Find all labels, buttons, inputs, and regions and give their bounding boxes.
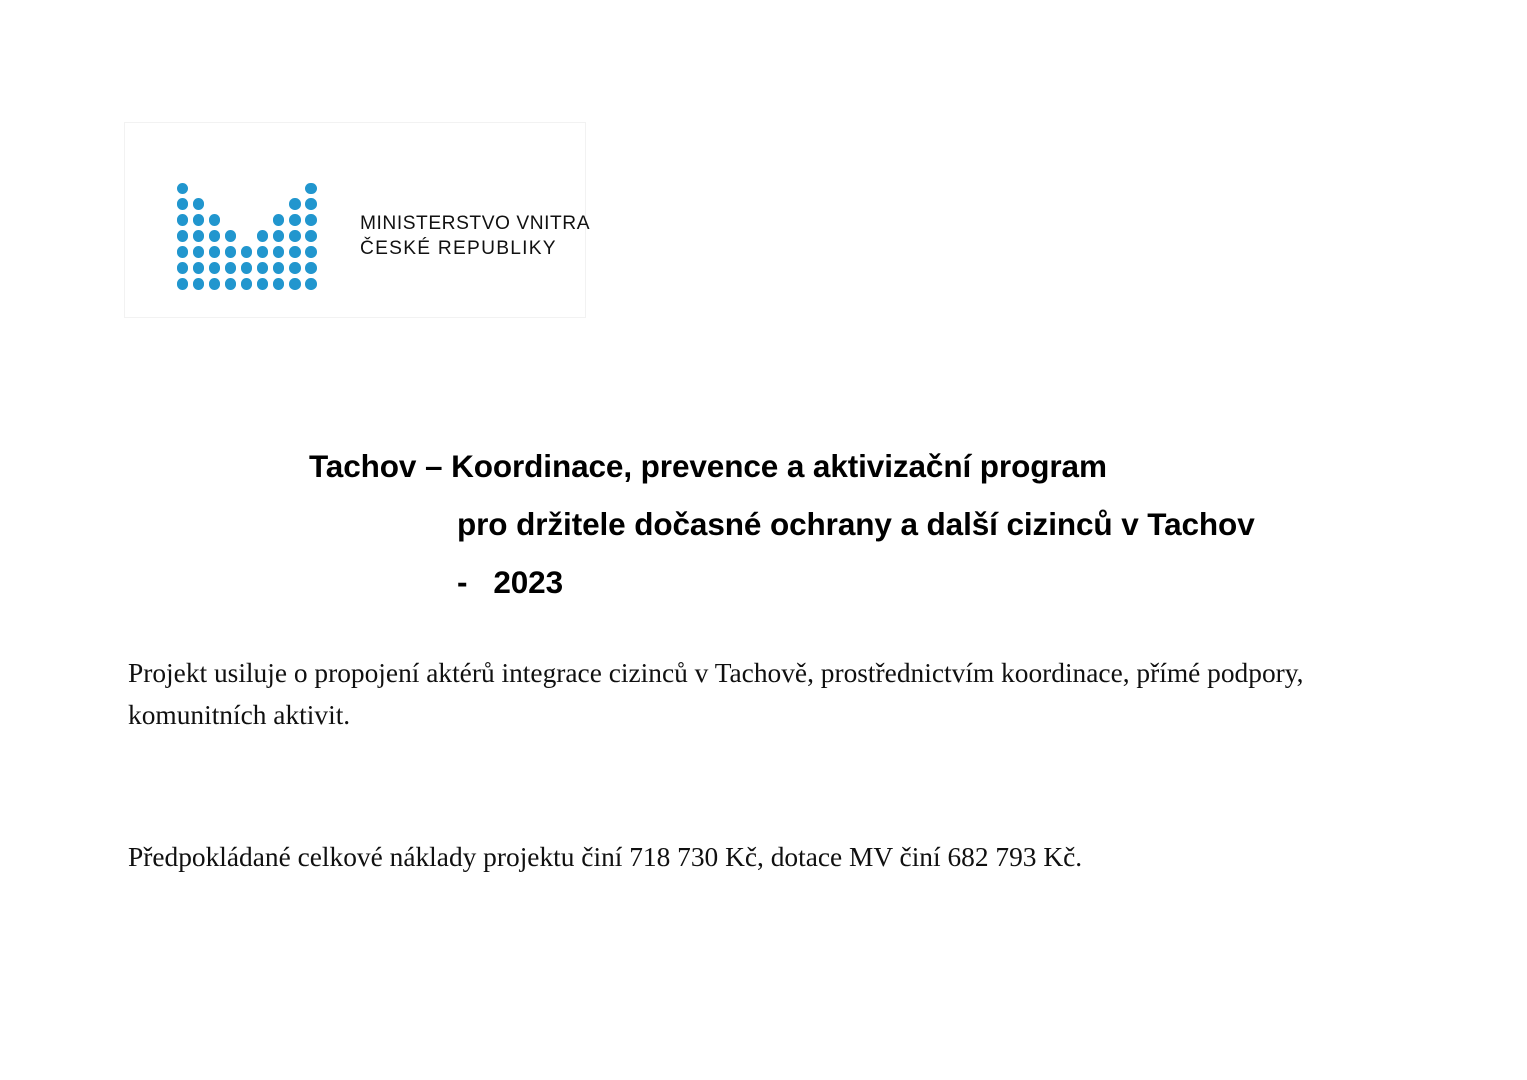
logo-dot (208, 260, 224, 276)
body-text: Projekt usiluje o propojení aktérů integ… (128, 652, 1403, 878)
logo-dot (176, 260, 192, 276)
logo-dot (176, 213, 192, 229)
logo-dot (272, 213, 288, 229)
logo-dot (224, 276, 240, 292)
logo-dot (192, 245, 208, 261)
logo-dot-empty (240, 181, 256, 197)
logo-dot-empty (224, 213, 240, 229)
logo-dot (288, 260, 304, 276)
logo-dot-empty (224, 197, 240, 213)
logo-dot (256, 245, 272, 261)
logo-dot-empty (240, 229, 256, 245)
logo-dot (240, 260, 256, 276)
wordmark-line-1: MINISTERSTVO VNITRA (360, 212, 590, 237)
logo-dot (256, 229, 272, 245)
logo-dot (272, 229, 288, 245)
ministry-logo-wordmark: MINISTERSTVO VNITRA ČESKÉ REPUBLIKY (360, 212, 590, 262)
logo-dot (240, 245, 256, 261)
logo-dot (176, 197, 192, 213)
logo-dot (176, 245, 192, 261)
page-title-line-3: - 2023 (0, 553, 1527, 611)
logo-dot-empty (272, 197, 288, 213)
page-title-line-2: pro držitele dočasné ochrany a další ciz… (0, 495, 1527, 553)
logo-dot (304, 245, 320, 261)
logo-dot (224, 245, 240, 261)
logo-dot (224, 229, 240, 245)
logo-dot (208, 245, 224, 261)
logo-dot (176, 229, 192, 245)
document-page: MINISTERSTVO VNITRA ČESKÉ REPUBLIKY Tach… (0, 0, 1527, 1080)
logo-dot (288, 276, 304, 292)
logo-dot (208, 276, 224, 292)
logo-dot (288, 245, 304, 261)
logo-dot (208, 229, 224, 245)
logo-dot (304, 229, 320, 245)
wordmark-line-2: ČESKÉ REPUBLIKY (360, 237, 590, 262)
logo-dot-empty (208, 197, 224, 213)
logo-dot (256, 276, 272, 292)
logo-dot (304, 213, 320, 229)
logo-dot (192, 260, 208, 276)
logo-dot (272, 260, 288, 276)
logo-dot (192, 213, 208, 229)
logo-dot (272, 276, 288, 292)
logo-dot (176, 276, 192, 292)
logo-dot-empty (240, 197, 256, 213)
logo-dot-empty (288, 181, 304, 197)
body-paragraph-description: Projekt usiluje o propojení aktérů integ… (128, 652, 1403, 736)
logo-dot-empty (256, 197, 272, 213)
logo-dot (304, 181, 320, 197)
logo-dot-empty (256, 213, 272, 229)
logo-dot (304, 276, 320, 292)
logo-dot (288, 197, 304, 213)
logo-dot (304, 260, 320, 276)
logo-dot (240, 276, 256, 292)
logo-dot (224, 260, 240, 276)
ministry-logo-dot-mark (176, 181, 320, 293)
logo-dot (192, 197, 208, 213)
page-title: Tachov – Koordinace, prevence a aktiviza… (0, 437, 1527, 611)
logo-dot (192, 229, 208, 245)
body-paragraph-costs: Předpokládané celkové náklady projektu č… (128, 836, 1403, 878)
page-title-line-1: Tachov – Koordinace, prevence a aktiviza… (0, 437, 1527, 495)
logo-dot (272, 245, 288, 261)
logo-dot-empty (240, 213, 256, 229)
logo-dot (192, 276, 208, 292)
logo-dot (176, 181, 192, 197)
logo-dot-empty (256, 181, 272, 197)
logo-dot (288, 229, 304, 245)
logo-dot-empty (272, 181, 288, 197)
ministry-logo: MINISTERSTVO VNITRA ČESKÉ REPUBLIKY (176, 181, 590, 293)
logo-dot (208, 213, 224, 229)
logo-dot (304, 197, 320, 213)
logo-dot-empty (224, 181, 240, 197)
logo-dot (256, 260, 272, 276)
logo-dot-empty (192, 181, 208, 197)
logo-dot-empty (208, 181, 224, 197)
logo-dot (288, 213, 304, 229)
